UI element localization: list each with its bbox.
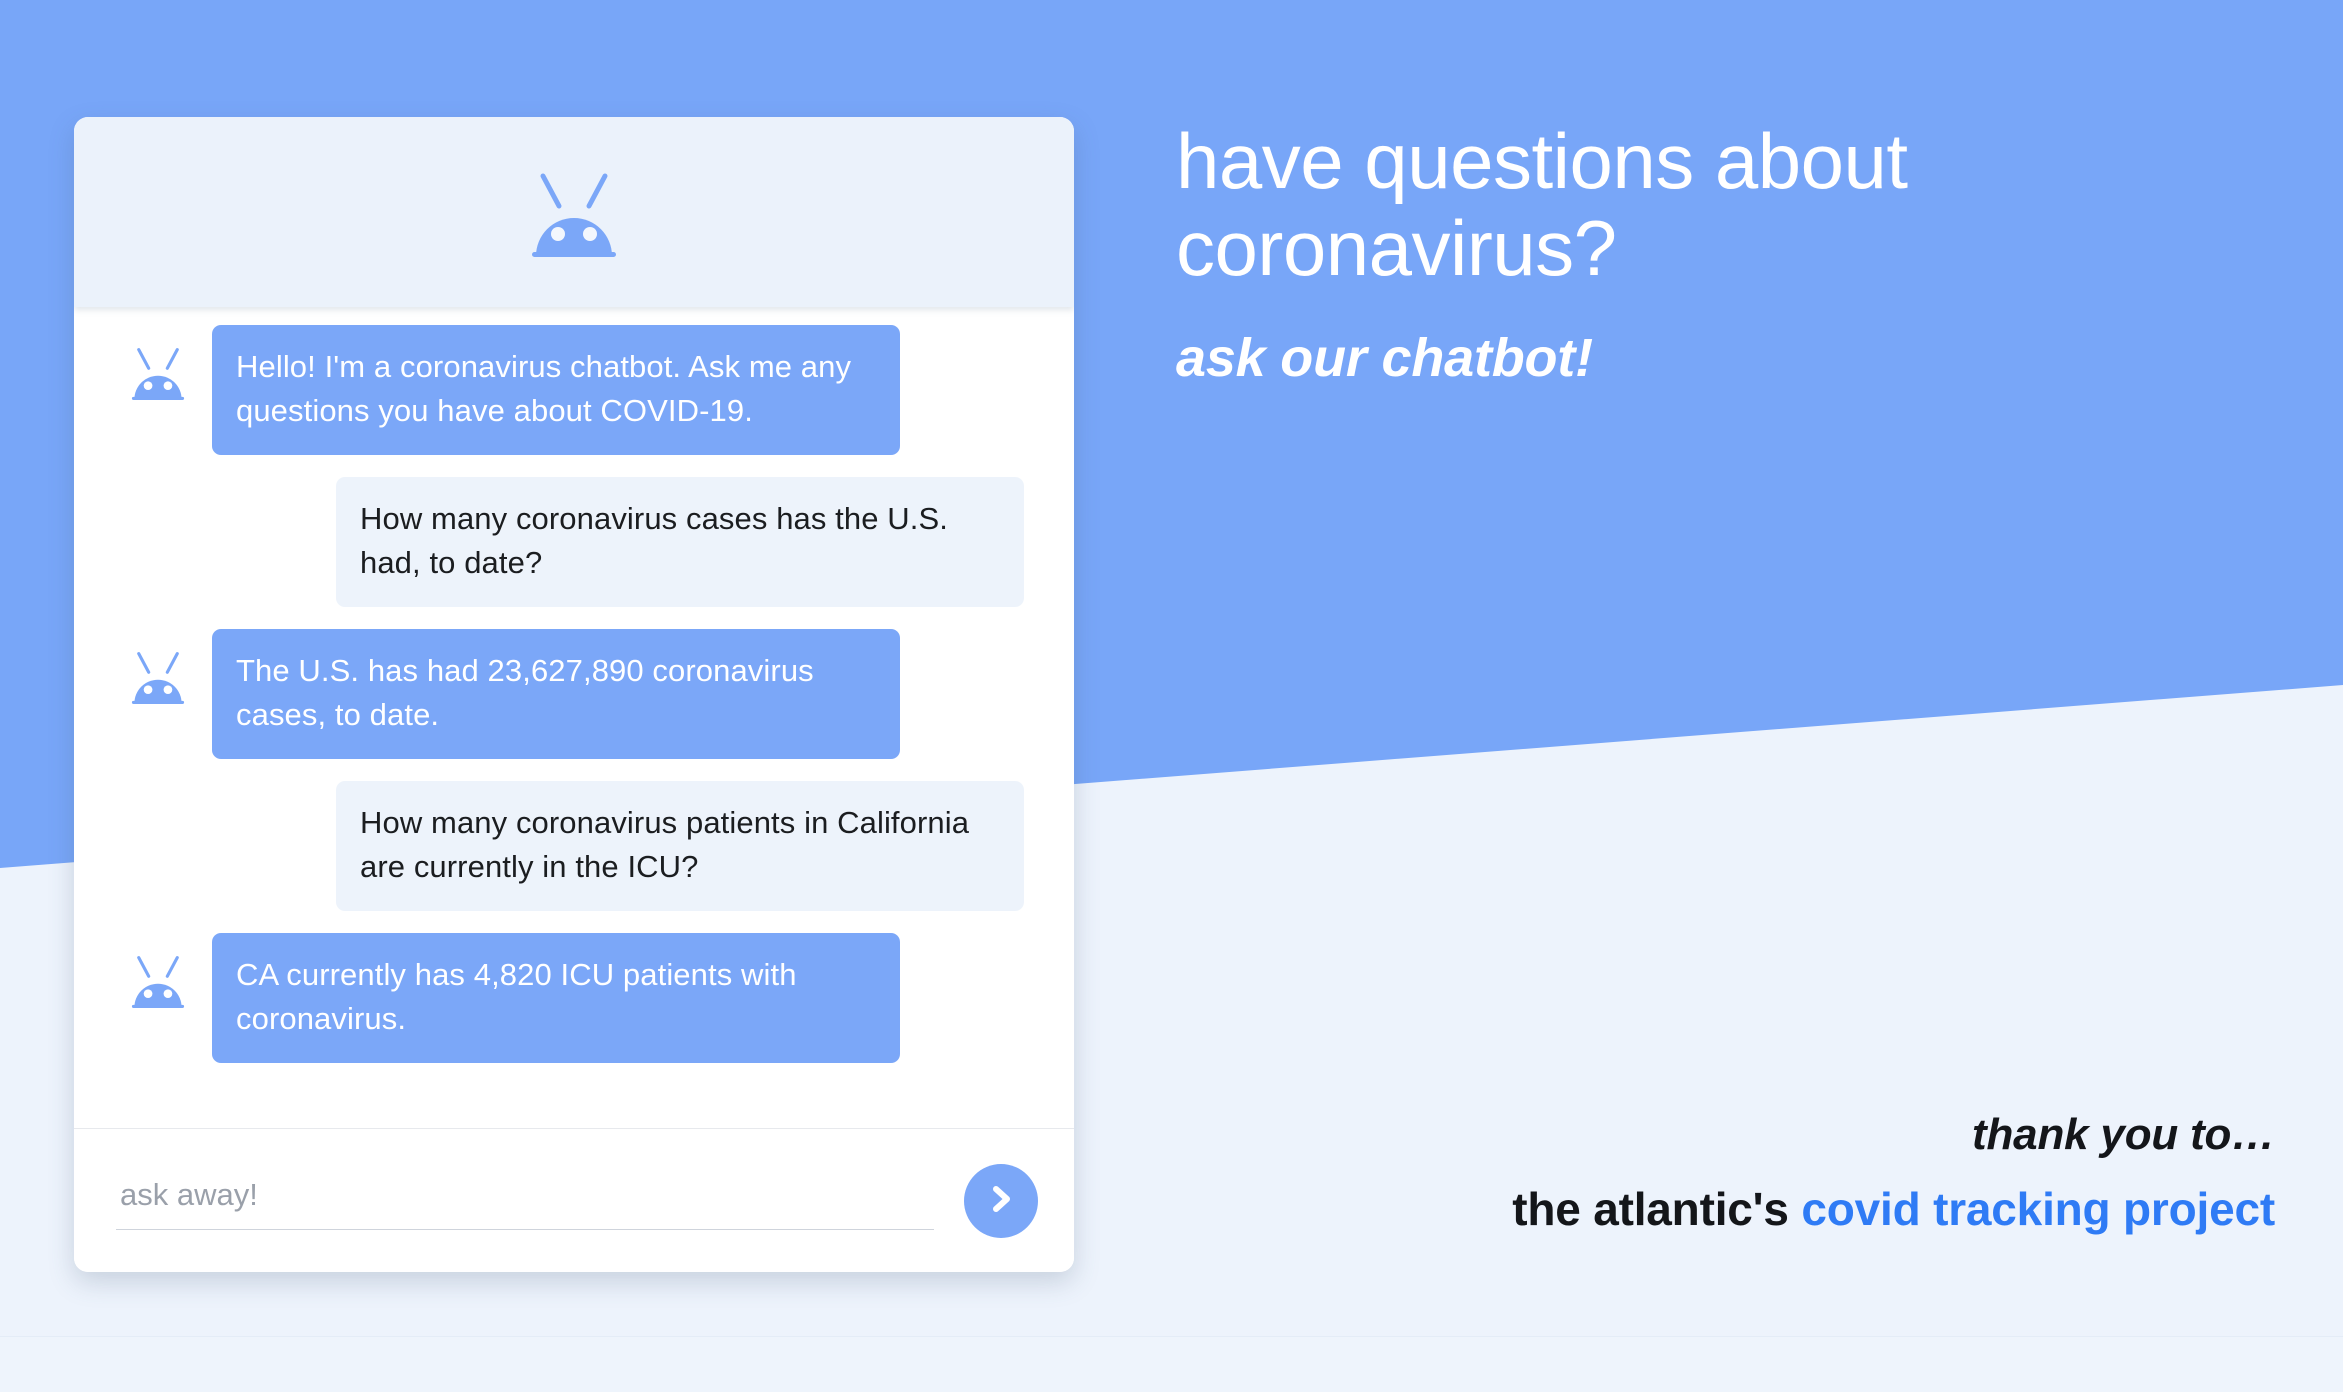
chat-message-bot: Hello! I'm a coronavirus chatbot. Ask me… — [74, 325, 1074, 455]
message-bubble: How many coronavirus cases has the U.S. … — [336, 477, 1024, 607]
thanks-label: thank you to… — [1512, 1110, 2275, 1160]
chat-message-bot: The U.S. has had 23,627,890 coronavirus … — [74, 629, 1074, 759]
message-bubble: The U.S. has had 23,627,890 coronavirus … — [212, 629, 900, 759]
android-robot-icon — [508, 166, 640, 258]
android-robot-icon — [104, 933, 212, 1009]
send-button[interactable] — [964, 1164, 1038, 1238]
chat-message-user: How many coronavirus patients in Califor… — [74, 781, 1074, 911]
covid-tracking-project-link[interactable]: covid tracking project — [1801, 1183, 2275, 1235]
hero-text-block: have questions about coronavirus? ask ou… — [1176, 118, 2176, 389]
page-root: Hello! I'm a coronavirus chatbot. Ask me… — [0, 0, 2343, 1392]
chevron-right-icon — [984, 1182, 1018, 1219]
message-bubble: CA currently has 4,820 ICU patients with… — [212, 933, 900, 1063]
chat-message-list: Hello! I'm a coronavirus chatbot. Ask me… — [74, 307, 1074, 1128]
chat-message-bot: CA currently has 4,820 ICU patients with… — [74, 933, 1074, 1063]
message-bubble: Hello! I'm a coronavirus chatbot. Ask me… — [212, 325, 900, 455]
message-bubble: How many coronavirus patients in Califor… — [336, 781, 1024, 911]
android-robot-icon — [104, 629, 212, 705]
headline-line-1: have questions about — [1176, 117, 1908, 205]
page-subtitle: ask our chatbot! — [1176, 327, 2176, 389]
chatbot-header — [74, 117, 1074, 307]
credit-source-prefix: the atlantic's — [1512, 1183, 1789, 1235]
headline-line-2: coronavirus? — [1176, 204, 1617, 292]
chat-message-input[interactable] — [116, 1171, 934, 1230]
credit-source-line: the atlantic's covid tracking project — [1512, 1182, 2275, 1236]
background-bottom-strip — [0, 1336, 2343, 1392]
credits-block: thank you to… the atlantic's covid track… — [1512, 1110, 2275, 1236]
chat-input-bar — [74, 1128, 1074, 1272]
android-robot-icon — [104, 325, 212, 401]
chat-message-user: How many coronavirus cases has the U.S. … — [74, 477, 1074, 607]
page-title: have questions about coronavirus? — [1176, 118, 2176, 293]
chatbot-widget: Hello! I'm a coronavirus chatbot. Ask me… — [74, 117, 1074, 1272]
